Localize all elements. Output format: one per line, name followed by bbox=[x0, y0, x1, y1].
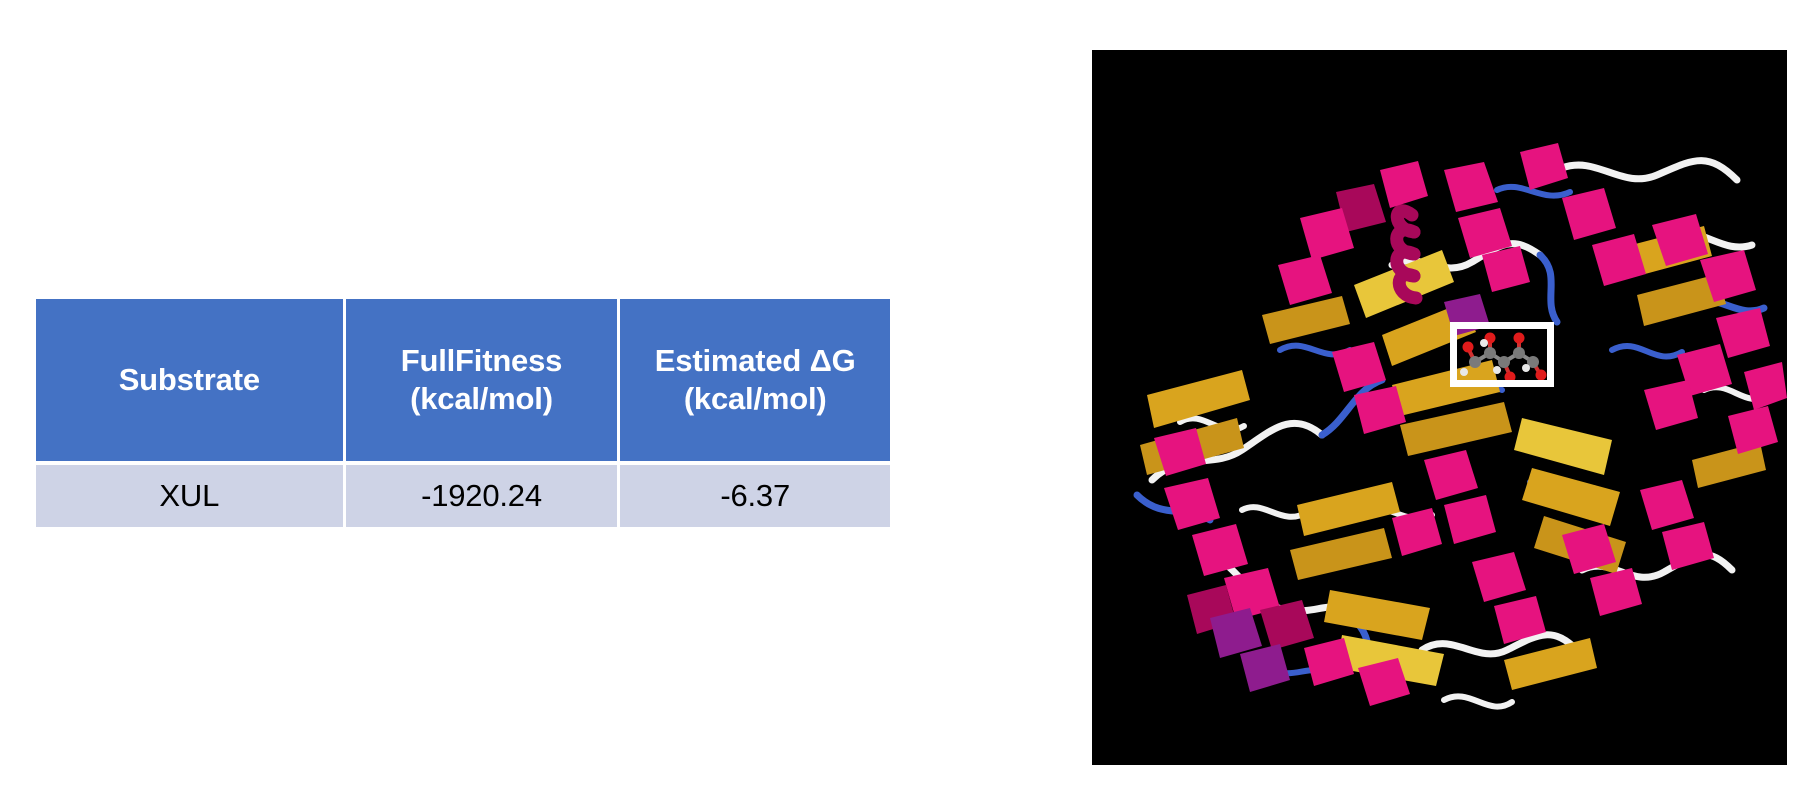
column-header-substrate-line1: Substrate bbox=[36, 361, 343, 399]
protein-cartoon-rendering bbox=[1092, 50, 1787, 765]
ligand-highlight-box bbox=[1450, 322, 1554, 387]
column-header-fullfitness-line2: (kcal/mol) bbox=[346, 380, 618, 418]
table-row: XUL -1920.24 -6.37 bbox=[36, 465, 890, 527]
column-header-estimated-dg-line1: Estimated ΔG bbox=[620, 342, 890, 380]
column-header-fullfitness-line1: FullFitness bbox=[346, 342, 618, 380]
column-header-estimated-dg-line2: (kcal/mol) bbox=[620, 380, 890, 418]
protein-structure-panel bbox=[1092, 50, 1787, 765]
table-body: XUL -1920.24 -6.37 bbox=[36, 465, 890, 527]
results-table: Substrate FullFitness (kcal/mol) Estimat… bbox=[33, 295, 893, 531]
table-header-row: Substrate FullFitness (kcal/mol) Estimat… bbox=[36, 299, 890, 461]
cell-fullfitness: -1920.24 bbox=[346, 465, 618, 527]
table-header: Substrate FullFitness (kcal/mol) Estimat… bbox=[36, 299, 890, 461]
column-header-substrate: Substrate bbox=[36, 299, 343, 461]
column-header-fullfitness: FullFitness (kcal/mol) bbox=[346, 299, 618, 461]
cell-estimated-dg: -6.37 bbox=[620, 465, 890, 527]
cell-substrate: XUL bbox=[36, 465, 343, 527]
column-header-estimated-dg: Estimated ΔG (kcal/mol) bbox=[620, 299, 890, 461]
